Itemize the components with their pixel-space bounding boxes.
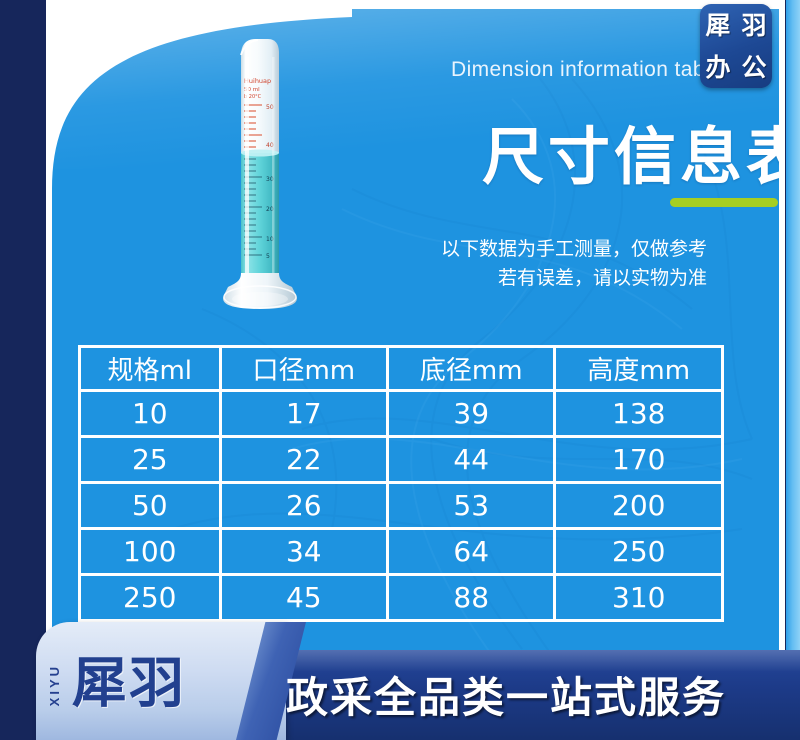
- cell-height: 250: [556, 530, 724, 576]
- badge-char-1: 犀: [705, 13, 730, 38]
- cell-spec: 25: [78, 438, 222, 484]
- graduated-cylinder-image: 50 40 Huihuap 50 ml b 20°C: [200, 25, 320, 315]
- table-row: 50 26 53 200: [78, 484, 724, 530]
- column-header-base: 底径mm: [389, 345, 556, 392]
- cell-height: 310: [556, 576, 724, 622]
- logo-latin-text: XIYU: [47, 664, 62, 706]
- cell-base: 39: [389, 392, 556, 438]
- dimension-table: 规格ml 口径mm 底径mm 高度mm 10 17 39 138 25 22 4…: [78, 345, 724, 622]
- footer-ribbon: XIYU 犀羽 政采全品类一站式服务: [0, 620, 800, 740]
- measurement-note: 以下数据为手工测量，仅做参考 若有误差，请以实物为准: [287, 235, 707, 294]
- cell-height: 200: [556, 484, 724, 530]
- cell-height: 170: [556, 438, 724, 484]
- column-header-height: 高度mm: [556, 345, 724, 392]
- note-line-1: 以下数据为手工测量，仅做参考: [287, 235, 707, 264]
- cell-base: 53: [389, 484, 556, 530]
- table-row: 100 34 64 250: [78, 530, 724, 576]
- badge-char-2: 羽: [741, 13, 766, 38]
- footer-slogan: 政采全品类一站式服务: [286, 664, 726, 725]
- cell-mouth: 45: [222, 576, 389, 622]
- frame-top-white-strip: [46, 0, 785, 9]
- poster-page: 50 40 Huihuap 50 ml b 20°C: [0, 0, 800, 740]
- badge-char-4: 公: [741, 55, 766, 80]
- cell-base: 44: [389, 438, 556, 484]
- column-header-spec: 规格ml: [78, 345, 222, 392]
- cell-mouth: 26: [222, 484, 389, 530]
- brand-badge: 犀 羽 办 公: [700, 4, 772, 88]
- svg-text:5: 5: [266, 253, 270, 260]
- cell-mouth: 34: [222, 530, 389, 576]
- badge-char-3: 办: [705, 55, 730, 80]
- cell-mouth: 22: [222, 438, 389, 484]
- cell-spec: 250: [78, 576, 222, 622]
- accent-underline-bar: [670, 198, 778, 207]
- table-row: 10 17 39 138: [78, 392, 724, 438]
- cell-height: 138: [556, 392, 724, 438]
- cell-spec: 50: [78, 484, 222, 530]
- table-header-row: 规格ml 口径mm 底径mm 高度mm: [78, 345, 724, 392]
- cylinder-svg: 50 40 Huihuap 50 ml b 20°C: [200, 25, 320, 315]
- note-line-2: 若有误差，请以实物为准: [287, 264, 707, 293]
- cell-spec: 100: [78, 530, 222, 576]
- table-row: 25 22 44 170: [78, 438, 724, 484]
- page-title: 尺寸信息表: [482, 106, 779, 196]
- column-header-mouth: 口径mm: [222, 345, 389, 392]
- table-row: 250 45 88 310: [78, 576, 724, 622]
- cell-base: 64: [389, 530, 556, 576]
- cell-base: 88: [389, 576, 556, 622]
- logo-chinese-text: 犀羽: [72, 656, 186, 711]
- ribbon-left-cap: [0, 650, 40, 740]
- cell-mouth: 17: [222, 392, 389, 438]
- cell-spec: 10: [78, 392, 222, 438]
